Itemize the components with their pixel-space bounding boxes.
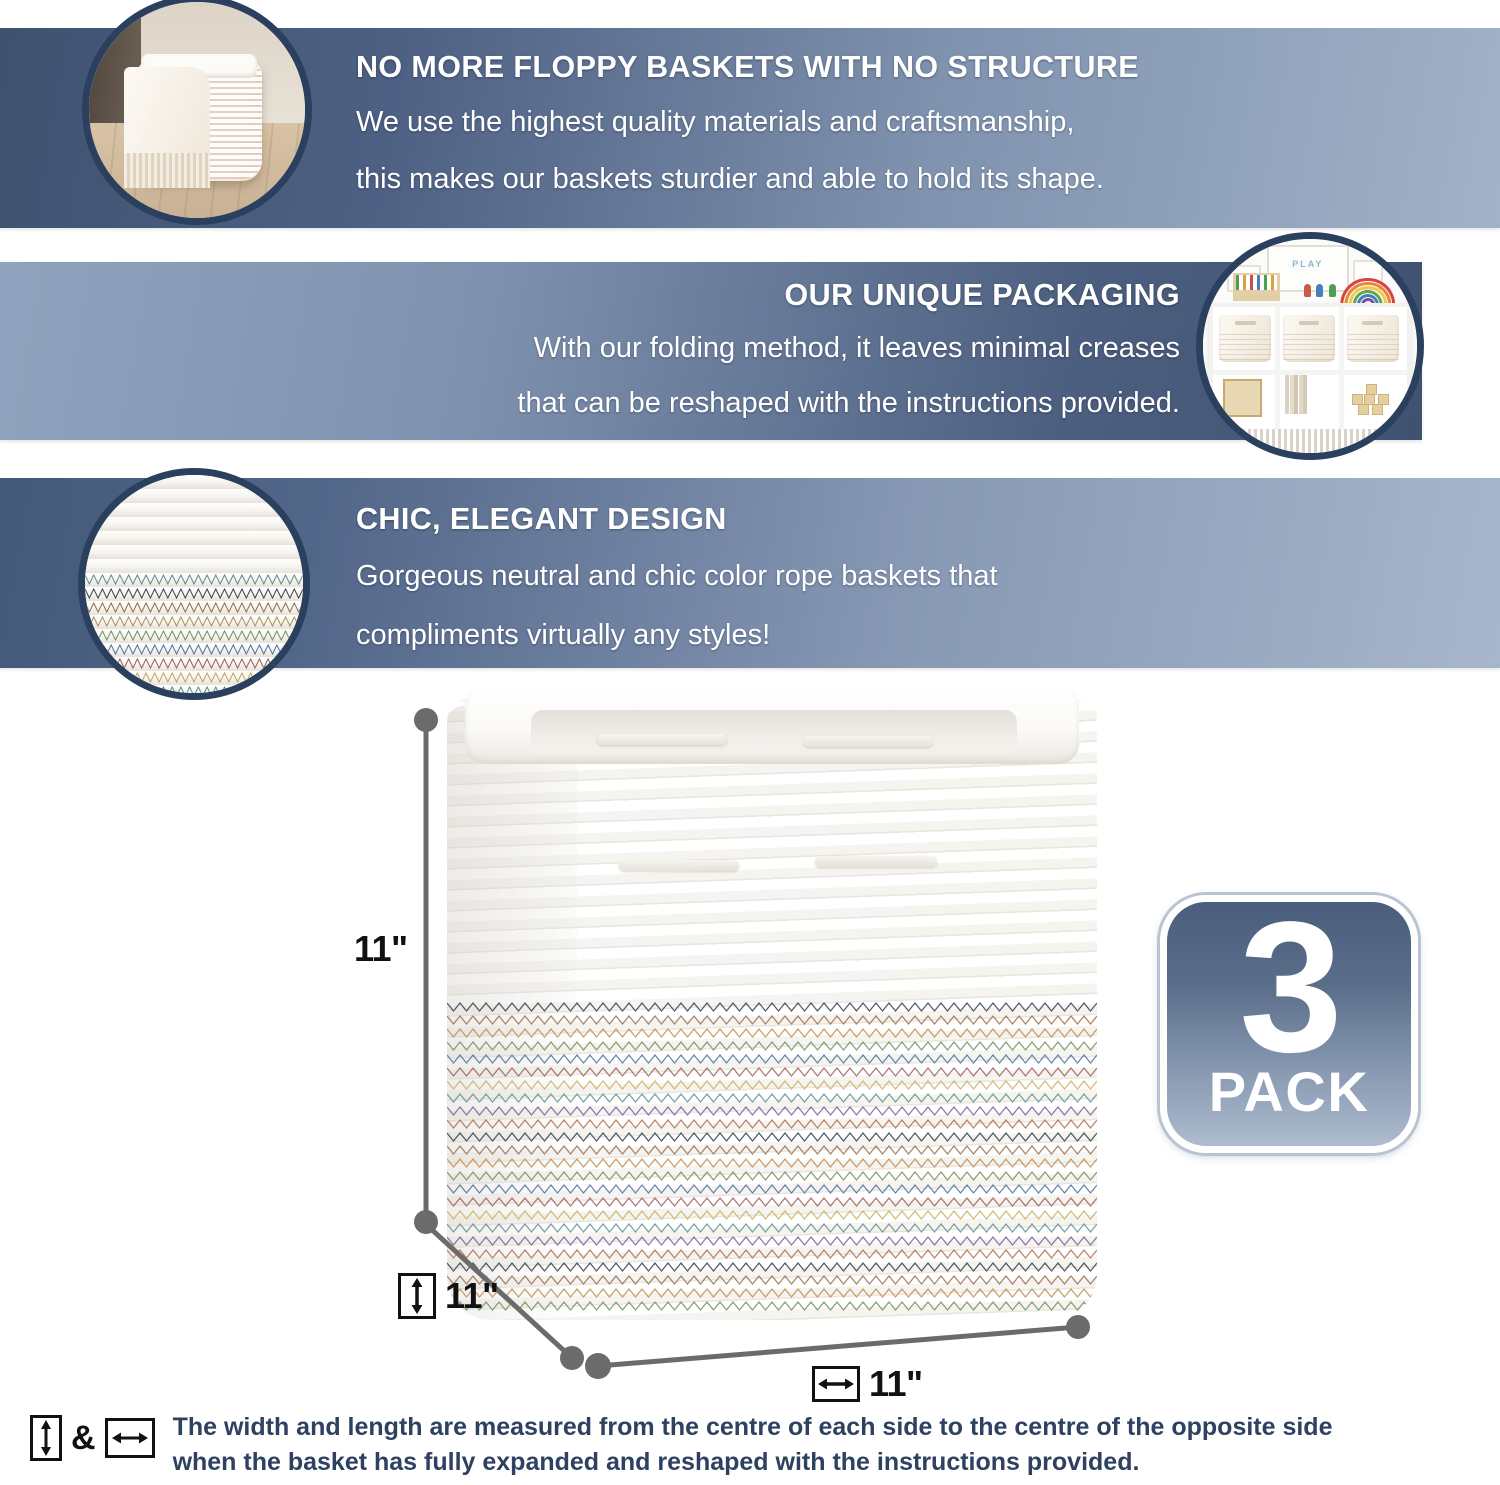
rope-coil-row: [85, 517, 303, 532]
rope-coil-row: [85, 699, 303, 700]
photo-2-cube-shelf: [1209, 303, 1410, 436]
photo-2-scene: PLAY: [1203, 239, 1417, 453]
zigzag-stitch-row: [447, 1169, 1097, 1182]
banner-1-headline: NO MORE FLOPPY BASKETS WITH NO STRUCTURE: [356, 50, 1139, 85]
zigzag-stitch-row: [447, 1260, 1097, 1273]
photo-2-wooden-block: [1378, 394, 1389, 405]
zigzag-stitch-row: [85, 671, 303, 686]
banner-2-body-line-1: With our folding method, it leaves minim…: [0, 329, 1180, 368]
zigzag-stitch-row: [85, 643, 303, 658]
footnote-line-2: when the basket has fully expanded and r…: [173, 1445, 1333, 1480]
cube-rope-storage-basket: [447, 700, 1097, 1320]
basket-handle: [815, 856, 937, 867]
zigzag-stitch-row: [85, 657, 303, 672]
banner-2-text-block: OUR UNIQUE PACKAGING With our folding me…: [0, 278, 1180, 422]
banner-3-body-line-2: compliments virtually any styles!: [356, 616, 998, 655]
peg-doll-icon: [1304, 284, 1311, 297]
width-dimension-endpoint: [585, 1353, 611, 1379]
depth-dimension-label: 11": [398, 1273, 499, 1319]
banner-1-body-line-2: this makes our baskets sturdier and able…: [356, 160, 1139, 199]
photo-2-wooden-block: [1358, 404, 1369, 415]
photo-2-striped-rug: [1203, 429, 1417, 453]
zigzag-stitch-row: [447, 1065, 1097, 1078]
basket-interior-shadow: [531, 710, 1017, 754]
photo-2-wooden-block: [1366, 384, 1377, 395]
photo-1-throw-blanket: [124, 67, 210, 166]
depth-dimension-endpoint: [560, 1346, 584, 1370]
photo-2-book: [1303, 375, 1307, 415]
zigzag-stitch-row: [447, 1195, 1097, 1208]
zigzag-stitch-row: [85, 699, 303, 700]
banner-2-body-line-2: that can be reshaped with the instructio…: [0, 384, 1180, 423]
footnote-ampersand: &: [71, 1421, 96, 1455]
photo-1-blanket-fringe: [124, 153, 210, 188]
footnote-line-1: The width and length are measured from t…: [173, 1410, 1333, 1445]
rope-coil-row: [85, 503, 303, 518]
photo-2-book: [1299, 375, 1303, 415]
height-dimension-endpoint: [414, 1210, 438, 1234]
photo-2-book: [1294, 375, 1298, 415]
pack-count-badge: 3 PACK: [1160, 895, 1418, 1153]
photo-2-shelf-basket: [1283, 315, 1335, 362]
banner-3-headline: CHIC, ELEGANT DESIGN: [356, 502, 998, 537]
zigzag-stitch-row: [447, 1156, 1097, 1169]
playroom-cube-shelf-baskets-photo: PLAY: [1196, 232, 1424, 460]
measurement-footnote: & The width and length are measured from…: [30, 1410, 1470, 1479]
horizontal-arrow-icon: [812, 1366, 860, 1402]
zigzag-stitch-row: [447, 1104, 1097, 1117]
photo-2-activity-cube: [1223, 379, 1262, 416]
width-dimension-label: 11": [812, 1363, 923, 1405]
zigzag-stitch-row: [447, 1013, 1097, 1026]
basket-handle: [619, 860, 739, 871]
zigzag-stitch-row: [85, 587, 303, 602]
zigzag-stitch-row: [447, 1052, 1097, 1065]
rope-zigzag-texture-closeup-photo: [78, 468, 310, 700]
zigzag-stitch-row: [447, 1182, 1097, 1195]
zigzag-stitch-row: [85, 685, 303, 700]
zigzag-stitch-row: [447, 1078, 1097, 1091]
rope-coil-row: [85, 531, 303, 546]
height-dimension-label: 11": [354, 928, 408, 970]
banner-3-text-block: CHIC, ELEGANT DESIGN Gorgeous neutral an…: [356, 502, 998, 654]
photo-2-book: [1290, 375, 1294, 415]
basket-handle: [803, 736, 933, 747]
zigzag-stitch-row: [447, 1091, 1097, 1104]
zigzag-stitch-row: [447, 1026, 1097, 1039]
photo-2-abacus-toy: [1233, 273, 1280, 301]
rope-coil-row: [85, 475, 303, 490]
photo-2-wooden-block: [1372, 404, 1383, 415]
basket-zigzag-stitch-band: [447, 1000, 1097, 1320]
height-dimension-value: 11": [354, 928, 408, 970]
rope-coil-row: [85, 559, 303, 574]
rope-coil-row: [85, 545, 303, 560]
zigzag-stitch-row: [85, 573, 303, 588]
zigzag-stitch-row: [447, 1000, 1097, 1013]
zigzag-stitch-row: [447, 1208, 1097, 1221]
rainbow-toy-icon: [1340, 278, 1396, 306]
footnote-text: The width and length are measured from t…: [167, 1410, 1333, 1479]
zigzag-stitch-row: [447, 1130, 1097, 1143]
pack-count-label: PACK: [1209, 1064, 1370, 1120]
zigzag-stitch-row: [447, 1221, 1097, 1234]
photo-2-shelf-basket: [1347, 315, 1399, 362]
pack-count-number: 3: [1239, 914, 1338, 1063]
basket-handle: [597, 734, 727, 745]
peg-doll-icon: [1316, 284, 1323, 297]
width-dimension-line: [598, 1327, 1078, 1366]
zigzag-stitch-row: [447, 1247, 1097, 1260]
zigzag-stitch-row: [447, 1299, 1097, 1312]
depth-dimension-value: 11": [445, 1275, 499, 1317]
zigzag-stitch-row: [447, 1234, 1097, 1247]
vertical-arrow-icon: [30, 1415, 62, 1461]
zigzag-stitch-row: [447, 1039, 1097, 1052]
banner-2-headline: OUR UNIQUE PACKAGING: [785, 278, 1180, 313]
photo-1-scene: [89, 2, 305, 218]
zigzag-stitch-row: [85, 615, 303, 630]
rope-coil-row: [85, 489, 303, 504]
photo-2-wooden-block: [1364, 394, 1375, 405]
zigzag-stitch-row: [85, 629, 303, 644]
footnote-icon-group: &: [30, 1410, 155, 1461]
photo-2-wooden-block: [1352, 394, 1363, 405]
photo-2-wall-art-text: PLAY: [1269, 259, 1346, 269]
vertical-arrow-icon: [398, 1273, 436, 1319]
zigzag-stitch-row: [447, 1286, 1097, 1299]
photo-2-shelf-basket: [1219, 315, 1271, 362]
zigzag-stitch-row: [447, 1273, 1097, 1286]
horizontal-arrow-icon: [105, 1418, 155, 1458]
rope-basket-with-throw-blanket-photo: [82, 0, 312, 225]
photo-2-shelf-shelfboard: [1213, 370, 1406, 375]
width-dimension-value: 11": [869, 1363, 923, 1405]
photo-3-rope-texture: [85, 475, 303, 693]
banner-1-body-line-1: We use the highest quality materials and…: [356, 103, 1139, 142]
banner-1-text-block: NO MORE FLOPPY BASKETS WITH NO STRUCTURE…: [356, 50, 1139, 198]
banner-3-body-line-1: Gorgeous neutral and chic color rope bas…: [356, 557, 998, 596]
height-dimension-endpoint: [414, 708, 438, 732]
zigzag-stitch-row: [447, 1143, 1097, 1156]
peg-doll-icon: [1329, 284, 1336, 297]
zigzag-stitch-row: [85, 601, 303, 616]
photo-2-book: [1285, 375, 1289, 415]
zigzag-stitch-row: [447, 1117, 1097, 1130]
